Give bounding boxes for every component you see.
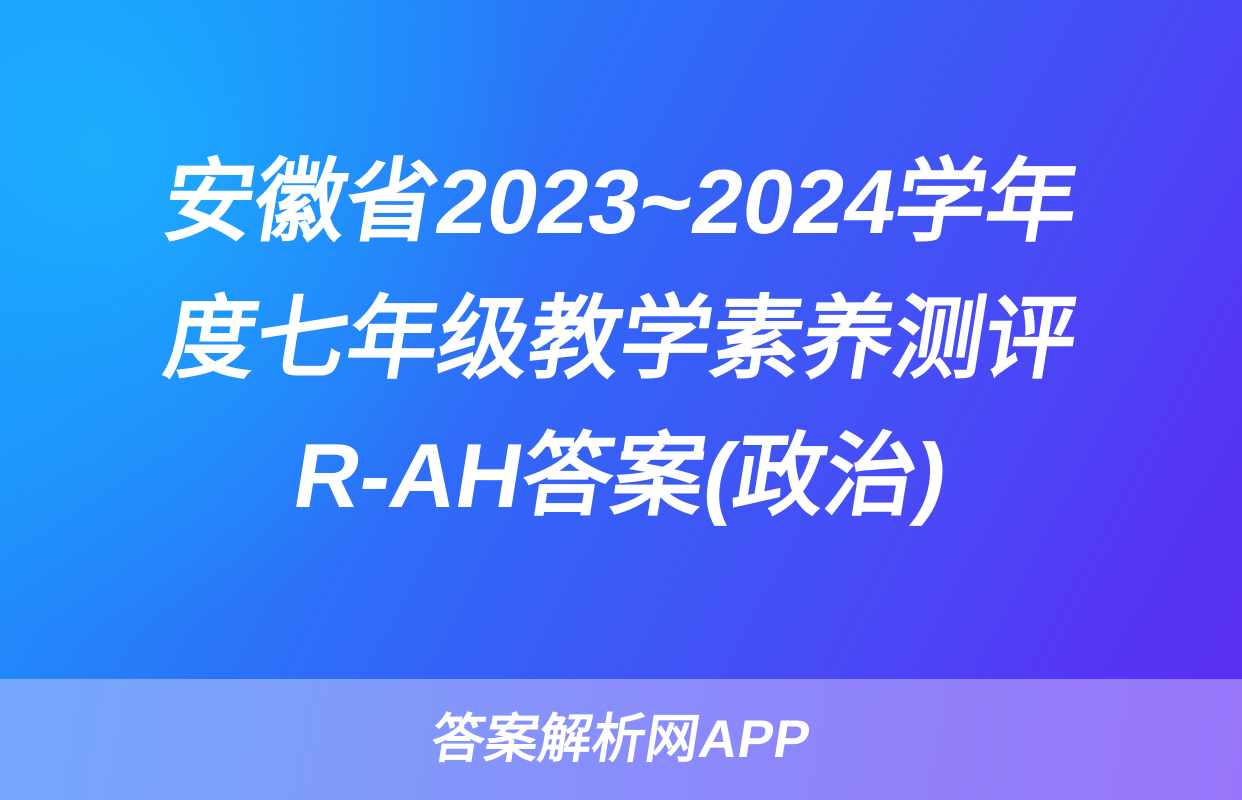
poster-title-line-3: R-AH答案(政治) [85,408,1157,545]
promo-poster: 安徽省2023~2024学年 度七年级教学素养测评 R-AH答案(政治) 答案解… [0,0,1242,800]
footer-brand-label: 答案解析网APP [428,713,814,766]
footer-brand-band: 答案解析网APP [0,679,1242,800]
poster-title-line-1: 安徽省2023~2024学年 [85,134,1157,271]
poster-title-line-2: 度七年级教学素养测评 [85,271,1157,408]
poster-title-block: 安徽省2023~2024学年 度七年级教学素养测评 R-AH答案(政治) [0,0,1242,679]
